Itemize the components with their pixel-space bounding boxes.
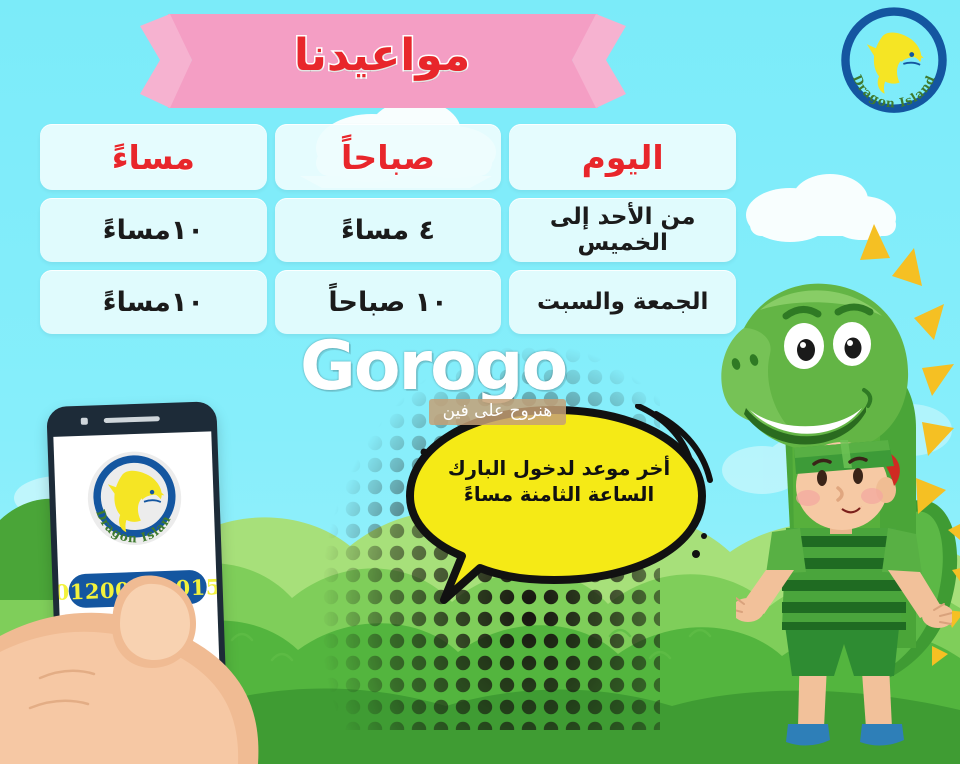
- header-cell-evening: مساءً: [40, 124, 267, 190]
- header-label-evening: مساءً: [112, 138, 195, 177]
- table-header-row: اليوم صباحاً مساءً: [40, 124, 736, 190]
- cell-day: الجمعة والسبت: [509, 270, 736, 334]
- header-cell-morning: صباحاً: [275, 124, 502, 190]
- notice-line-2: الساعة الثامنة مساءً: [428, 482, 690, 508]
- hand-holding-phone: [0, 540, 330, 764]
- ribbon-banner: مواعيدنا: [146, 12, 618, 112]
- evening-value: ١٠مساءً: [103, 215, 204, 246]
- poster-canvas: مواعيدنا اليوم صباحاً مساءً من الأحد إلى…: [0, 0, 960, 764]
- cell-day: من الأحد إلى الخميس: [509, 198, 736, 262]
- cell-morning: ١٠ صباحاً: [275, 270, 502, 334]
- notice-text: أخر موعد لدخول البارك الساعة الثامنة مسا…: [428, 456, 690, 509]
- morning-value: ١٠ صباحاً: [328, 287, 447, 318]
- poster-title: مواعيدنا: [146, 12, 618, 112]
- speech-bubble: أخر موعد لدخول البارك الساعة الثامنة مسا…: [404, 404, 714, 604]
- table-row: من الأحد إلى الخميس ٤ مساءً ١٠مساءً: [40, 198, 736, 262]
- day-value: الجمعة والسبت: [537, 289, 708, 315]
- cell-evening: ١٠مساءً: [40, 198, 267, 262]
- cell-evening: ١٠مساءً: [40, 270, 267, 334]
- header-label-morning: صباحاً: [341, 138, 435, 177]
- header-label-day: اليوم: [582, 138, 664, 177]
- morning-value: ٤ مساءً: [341, 215, 435, 246]
- dragon-island-logo: Dragon Island: [838, 6, 950, 118]
- phone-camera: [81, 418, 88, 425]
- table-row: الجمعة والسبت ١٠ صباحاً ١٠مساءً: [40, 270, 736, 334]
- cell-morning: ٤ مساءً: [275, 198, 502, 262]
- evening-value: ١٠مساءً: [103, 287, 204, 318]
- day-value: من الأحد إلى الخميس: [509, 204, 736, 256]
- boy-character: [736, 432, 952, 764]
- notice-line-1: أخر موعد لدخول البارك: [428, 456, 690, 482]
- header-cell-day: اليوم: [509, 124, 736, 190]
- schedule-table: اليوم صباحاً مساءً من الأحد إلى الخميس ٤…: [40, 124, 736, 334]
